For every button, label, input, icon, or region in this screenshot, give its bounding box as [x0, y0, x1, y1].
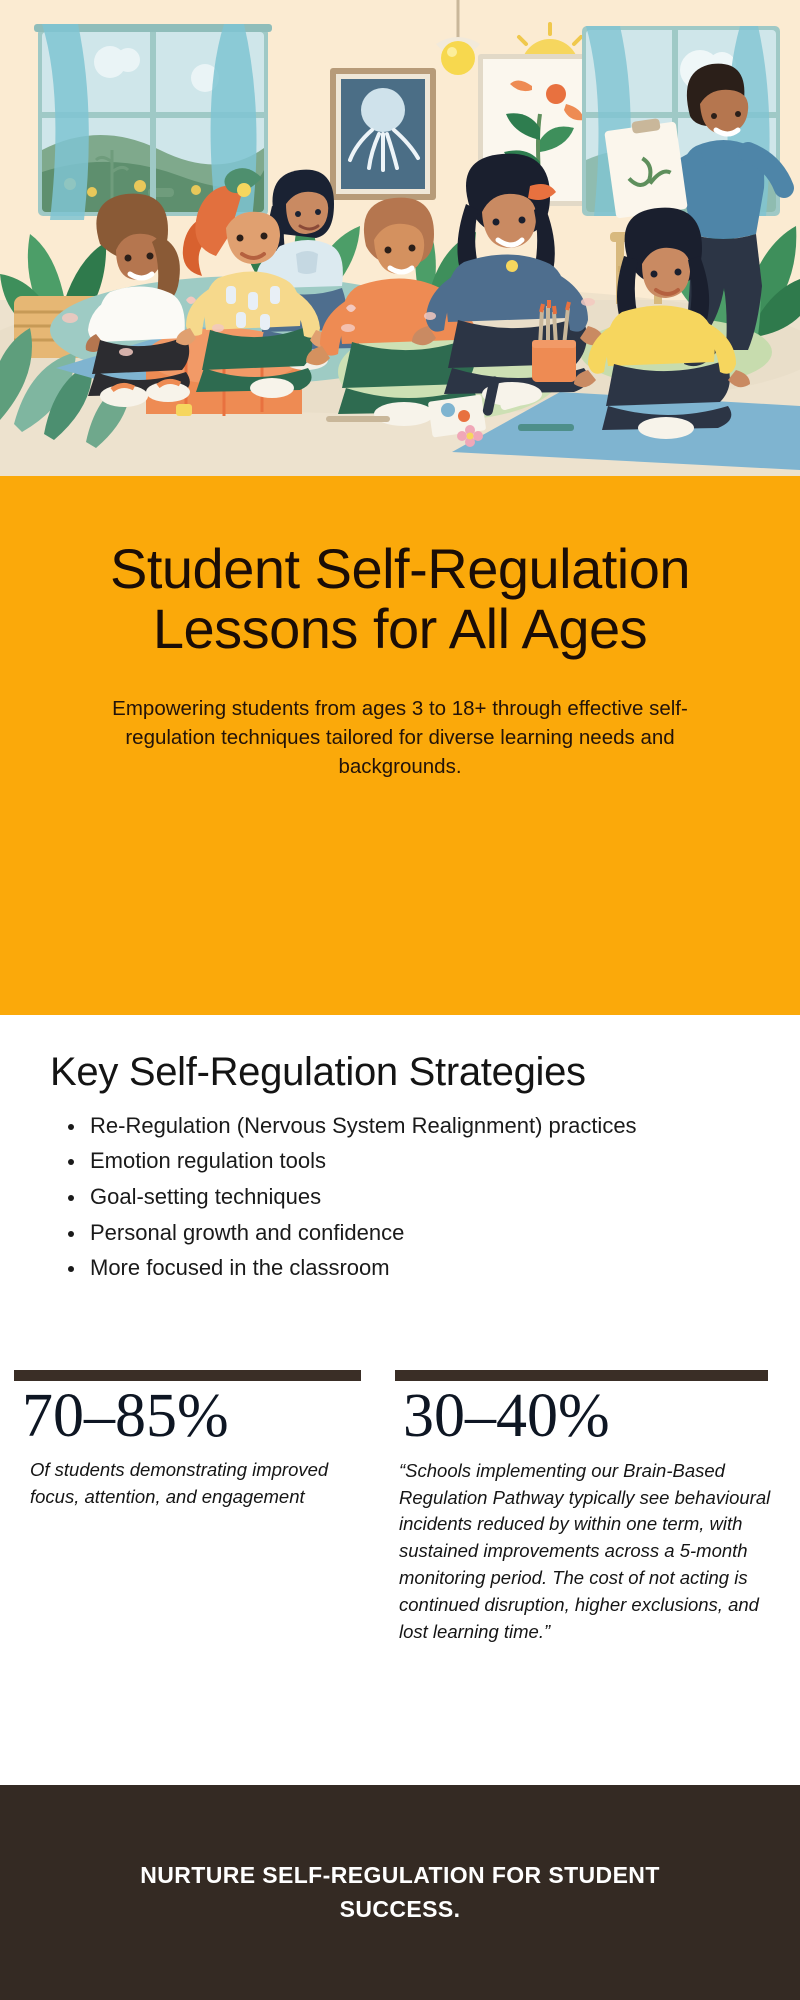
infographic-page: Student Self-Regulation Lessons for All … [0, 0, 800, 2000]
hero-illustration [0, 0, 800, 476]
stat-figure: 70–85% [14, 1385, 371, 1449]
list-item: Re-Regulation (Nervous System Realignmen… [50, 1109, 758, 1143]
bullet-icon [68, 1231, 74, 1237]
bullet-icon [68, 1195, 74, 1201]
stat-card-right: 30–40% “Schools implementing our Brain-B… [395, 1370, 782, 1646]
page-title: Student Self-Regulation Lessons for All … [80, 539, 720, 660]
list-item-label: Re-Regulation (Nervous System Realignmen… [90, 1113, 637, 1138]
stats-block: 70–85% Of students demonstrating improve… [0, 1370, 800, 1646]
content-section: Key Self-Regulation Strategies Re-Regula… [0, 1015, 800, 1785]
strategies-list: Re-Regulation (Nervous System Realignmen… [50, 1109, 758, 1285]
list-item-label: Personal growth and confidence [90, 1220, 404, 1245]
stat-figure: 30–40% [395, 1385, 782, 1449]
stat-quote: “Schools implementing our Brain-Based Re… [395, 1458, 782, 1646]
bullet-icon [68, 1266, 74, 1272]
stat-card-left: 70–85% Of students demonstrating improve… [14, 1370, 395, 1646]
list-item: Goal-setting techniques [50, 1180, 758, 1214]
bullet-icon [68, 1159, 74, 1165]
stat-description: Of students demonstrating improved focus… [14, 1457, 371, 1511]
page-subtitle: Empowering students from ages 3 to 18+ t… [95, 694, 705, 781]
list-item: Personal growth and confidence [50, 1216, 758, 1250]
footer-cta-text: Nurture self-regulation for student succ… [90, 1859, 710, 1926]
framed-octopus-art-icon [330, 68, 436, 200]
list-item-label: More focused in the classroom [90, 1255, 390, 1280]
stat-rule [14, 1370, 361, 1381]
bullet-icon [68, 1124, 74, 1130]
strategies-heading: Key Self-Regulation Strategies [50, 1050, 758, 1095]
strategies-block: Key Self-Regulation Strategies Re-Regula… [0, 1015, 800, 1285]
title-band: Student Self-Regulation Lessons for All … [0, 476, 800, 1015]
classroom-yoga-scene-svg [0, 0, 800, 476]
list-item-label: Emotion regulation tools [90, 1148, 326, 1173]
footer-banner: Nurture self-regulation for student succ… [0, 1785, 800, 2000]
list-item-label: Goal-setting techniques [90, 1184, 321, 1209]
list-item: Emotion regulation tools [50, 1144, 758, 1178]
clipboard-icon [604, 118, 688, 218]
stat-rule [395, 1370, 768, 1381]
list-item: More focused in the classroom [50, 1251, 758, 1285]
